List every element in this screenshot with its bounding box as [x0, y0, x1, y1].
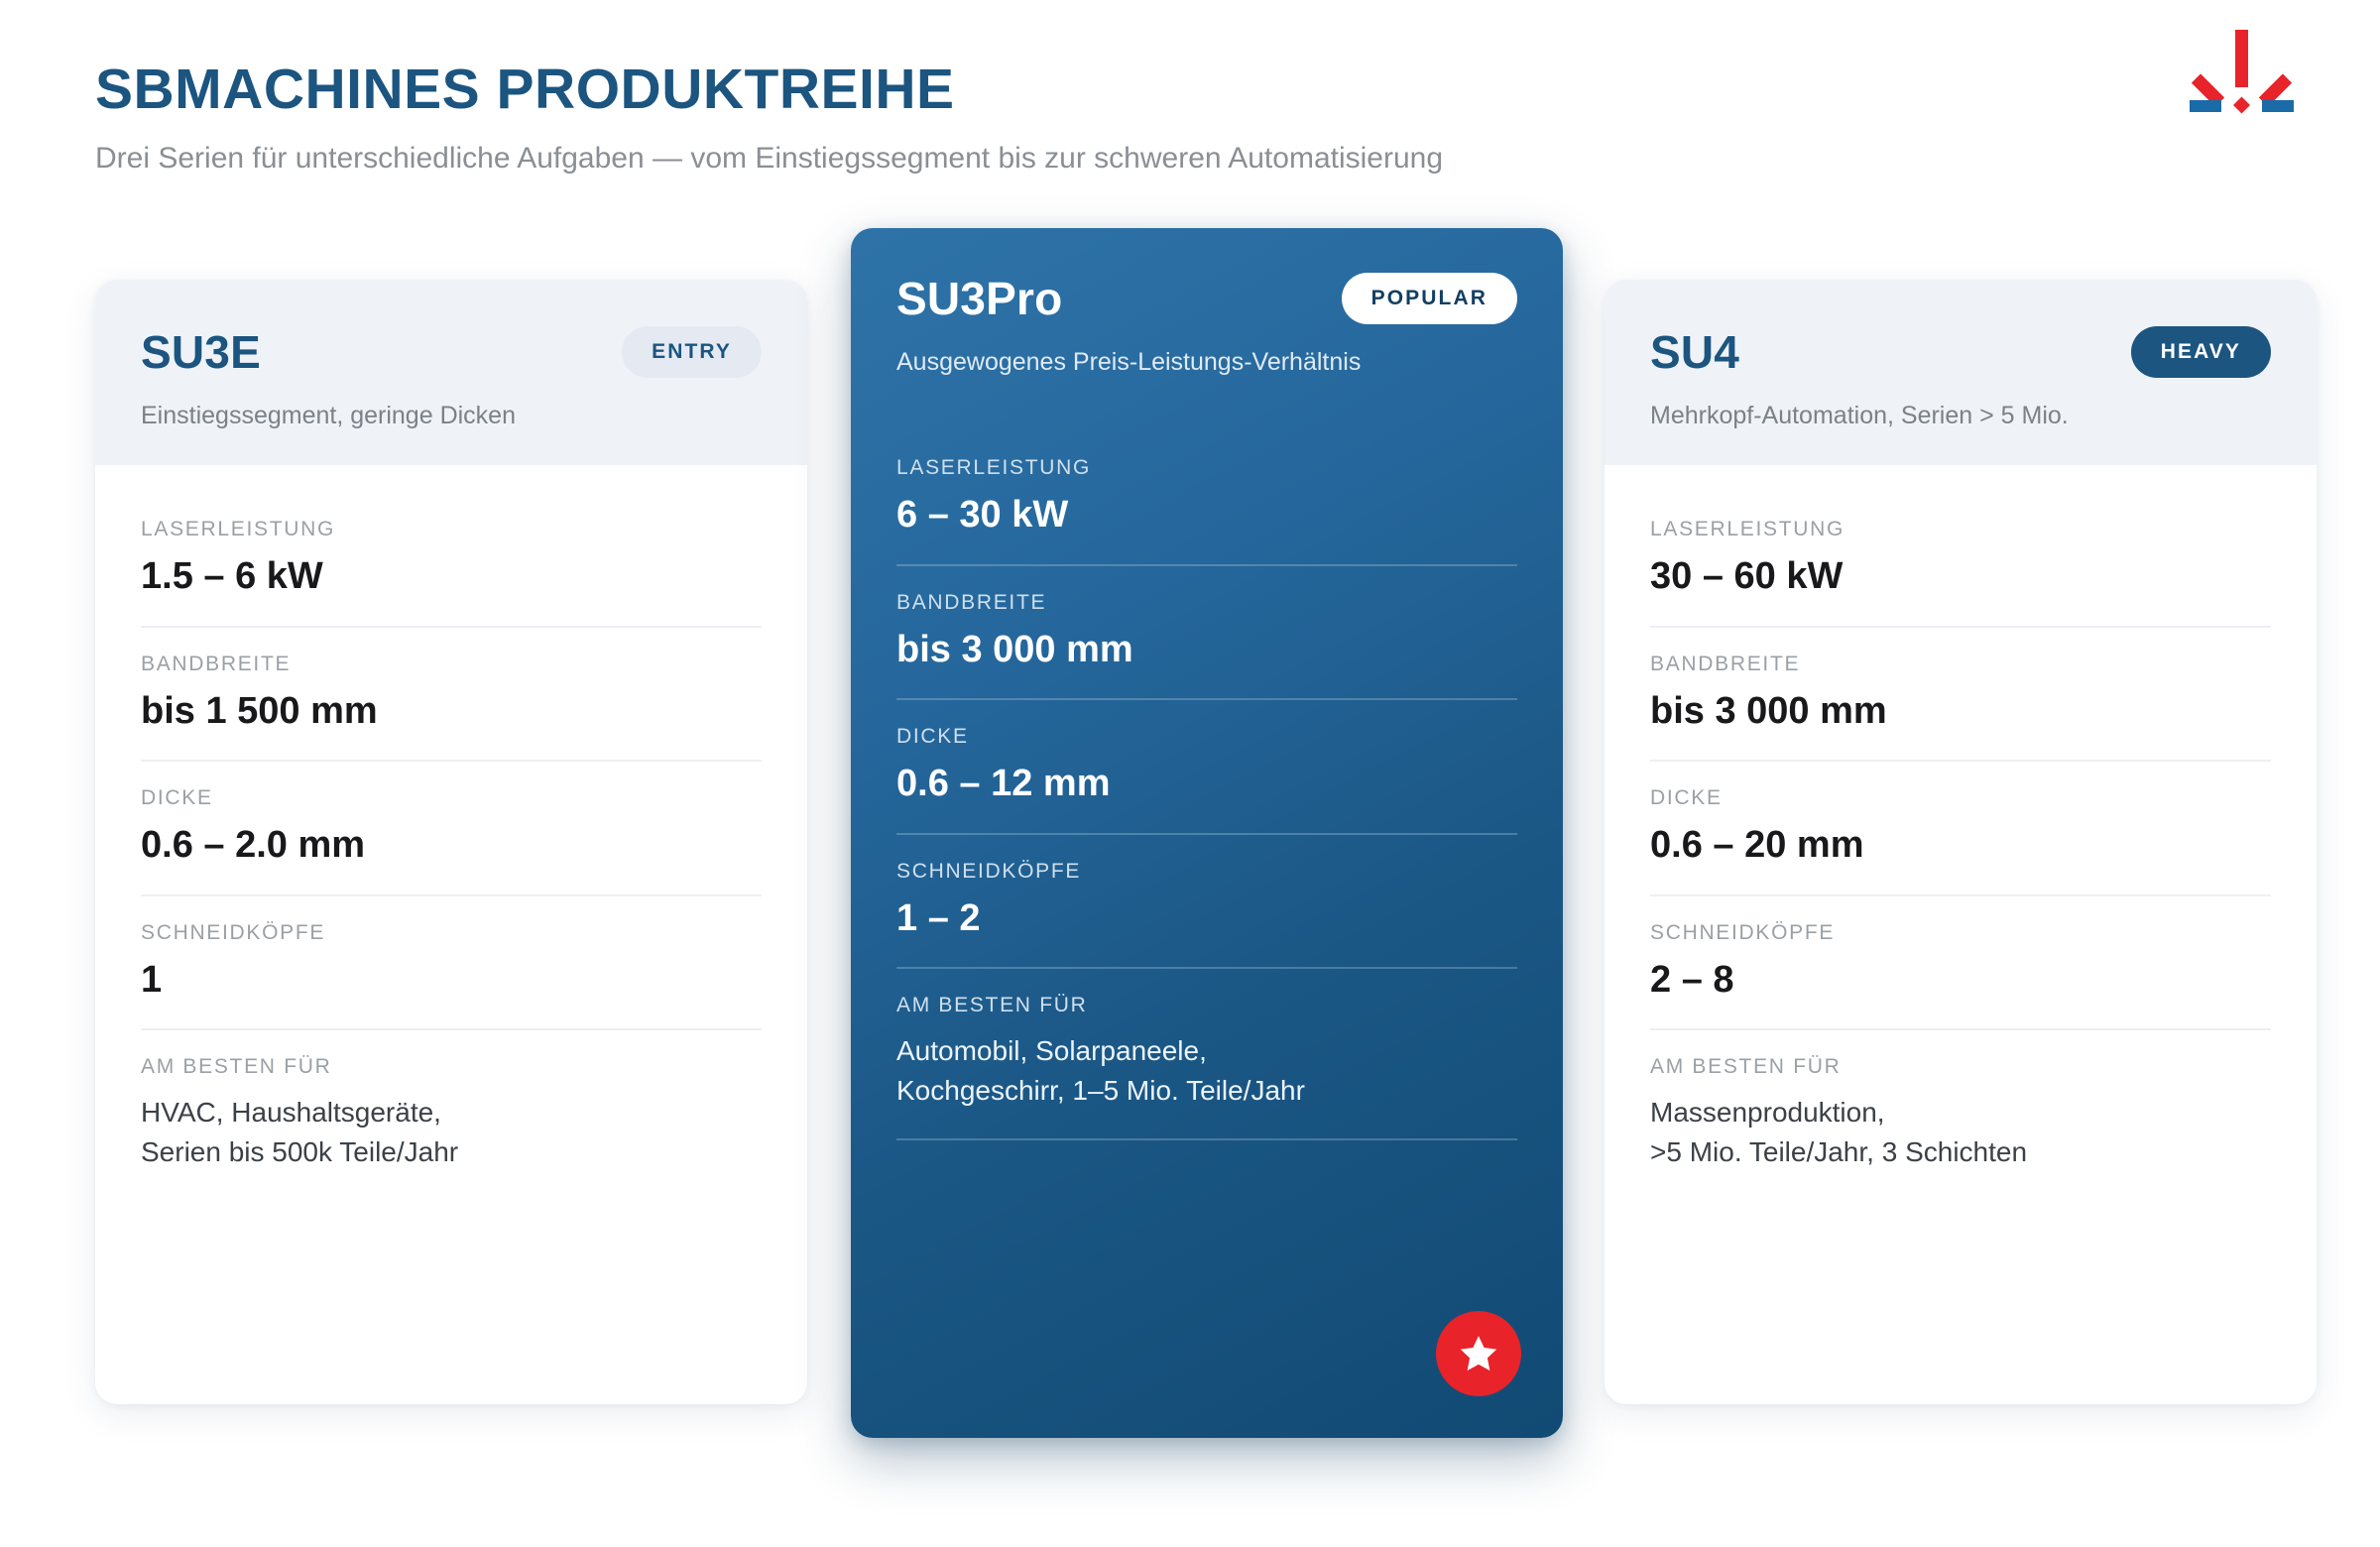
- card-header: SU3Pro POPULAR Ausgewogenes Preis-Leistu…: [851, 228, 1563, 408]
- status-badge: ENTRY: [622, 326, 762, 378]
- spec-value: bis 3 000 mm: [1650, 690, 2271, 733]
- card-tagline: Ausgewogenes Preis-Leistungs-Verhältnis: [896, 347, 1517, 378]
- card-body: LASERLEISTUNG 1.5 – 6 kW BANDBREITE bis …: [95, 465, 807, 1200]
- spec-value: Massenproduktion,>5 Mio. Teile/Jahr, 3 S…: [1650, 1093, 2271, 1172]
- card-header: SU3E ENTRY Einstiegssegment, geringe Dic…: [95, 280, 807, 465]
- spec-strip-width: BANDBREITE bis 3 000 mm: [896, 566, 1517, 701]
- spec-best-for: AM BESTEN FÜR Automobil, Solarpaneele,Ko…: [896, 969, 1517, 1140]
- card-header-row: SU4 HEAVY: [1650, 321, 2271, 383]
- spec-label: BANDBREITE: [141, 654, 762, 674]
- star-icon: [1436, 1311, 1521, 1396]
- spec-cutting-heads: SCHNEIDKÖPFE 1: [141, 896, 762, 1031]
- card-title: SU3E: [141, 329, 261, 375]
- spec-thickness: DICKE 0.6 – 2.0 mm: [141, 762, 762, 896]
- spec-label: SCHNEIDKÖPFE: [1650, 922, 2271, 943]
- spec-label: DICKE: [141, 787, 762, 808]
- product-card-grid: SU3E ENTRY Einstiegssegment, geringe Dic…: [0, 0, 2380, 1547]
- spec-label: LASERLEISTUNG: [141, 519, 762, 539]
- spec-value: bis 1 500 mm: [141, 690, 762, 733]
- product-lineup-page: SBMACHINES PRODUKTREIHE Drei Serien für …: [0, 0, 2380, 1547]
- spec-label: AM BESTEN FÜR: [896, 995, 1517, 1015]
- card-title: SU3Pro: [896, 276, 1062, 321]
- spec-value: 1 – 2: [896, 897, 1517, 940]
- spec-label: SCHNEIDKÖPFE: [896, 861, 1517, 882]
- spec-strip-width: BANDBREITE bis 1 500 mm: [141, 628, 762, 763]
- spec-value: 0.6 – 2.0 mm: [141, 824, 762, 867]
- spec-cutting-heads: SCHNEIDKÖPFE 2 – 8: [1650, 896, 2271, 1031]
- card-tagline: Mehrkopf-Automation, Serien > 5 Mio.: [1650, 401, 2271, 431]
- card-title: SU4: [1650, 329, 1739, 375]
- spec-value: 2 – 8: [1650, 959, 2271, 1002]
- status-badge: POPULAR: [1342, 273, 1517, 324]
- spec-label: SCHNEIDKÖPFE: [141, 922, 762, 943]
- spec-label: BANDBREITE: [1650, 654, 2271, 674]
- status-badge: HEAVY: [2131, 326, 2271, 378]
- spec-label: AM BESTEN FÜR: [1650, 1056, 2271, 1077]
- spec-best-for: AM BESTEN FÜR Massenproduktion,>5 Mio. T…: [1650, 1030, 2271, 1200]
- spec-laser-power: LASERLEISTUNG 1.5 – 6 kW: [141, 493, 762, 628]
- spec-label: LASERLEISTUNG: [1650, 519, 2271, 539]
- card-body: LASERLEISTUNG 6 – 30 kW BANDBREITE bis 3…: [851, 408, 1563, 1140]
- spec-label: DICKE: [896, 726, 1517, 747]
- spec-value: 6 – 30 kW: [896, 494, 1517, 536]
- product-card-su3pro[interactable]: SU3Pro POPULAR Ausgewogenes Preis-Leistu…: [851, 228, 1563, 1438]
- spec-laser-power: LASERLEISTUNG 6 – 30 kW: [896, 431, 1517, 566]
- spec-value: bis 3 000 mm: [896, 629, 1517, 671]
- spec-value: 0.6 – 12 mm: [896, 763, 1517, 805]
- spec-label: DICKE: [1650, 787, 2271, 808]
- spec-value: 0.6 – 20 mm: [1650, 824, 2271, 867]
- product-card-su3e[interactable]: SU3E ENTRY Einstiegssegment, geringe Dic…: [95, 280, 807, 1404]
- spec-label: BANDBREITE: [896, 592, 1517, 613]
- spec-value: 1: [141, 959, 762, 1002]
- card-header: SU4 HEAVY Mehrkopf-Automation, Serien > …: [1605, 280, 2317, 465]
- spec-laser-power: LASERLEISTUNG 30 – 60 kW: [1650, 493, 2271, 628]
- spec-strip-width: BANDBREITE bis 3 000 mm: [1650, 628, 2271, 763]
- card-header-row: SU3E ENTRY: [141, 321, 762, 383]
- spec-value: Automobil, Solarpaneele,Kochgeschirr, 1–…: [896, 1031, 1517, 1111]
- card-body: LASERLEISTUNG 30 – 60 kW BANDBREITE bis …: [1605, 465, 2317, 1200]
- card-header-row: SU3Pro POPULAR: [896, 268, 1517, 329]
- spec-label: AM BESTEN FÜR: [141, 1056, 762, 1077]
- product-card-su4[interactable]: SU4 HEAVY Mehrkopf-Automation, Serien > …: [1605, 280, 2317, 1404]
- spec-best-for: AM BESTEN FÜR HVAC, Haushaltsgeräte,Seri…: [141, 1030, 762, 1200]
- spec-thickness: DICKE 0.6 – 20 mm: [1650, 762, 2271, 896]
- spec-value: HVAC, Haushaltsgeräte,Serien bis 500k Te…: [141, 1093, 762, 1172]
- spec-value: 30 – 60 kW: [1650, 555, 2271, 598]
- spec-thickness: DICKE 0.6 – 12 mm: [896, 700, 1517, 835]
- card-tagline: Einstiegssegment, geringe Dicken: [141, 401, 762, 431]
- spec-value: 1.5 – 6 kW: [141, 555, 762, 598]
- spec-label: LASERLEISTUNG: [896, 457, 1517, 478]
- spec-cutting-heads: SCHNEIDKÖPFE 1 – 2: [896, 835, 1517, 970]
